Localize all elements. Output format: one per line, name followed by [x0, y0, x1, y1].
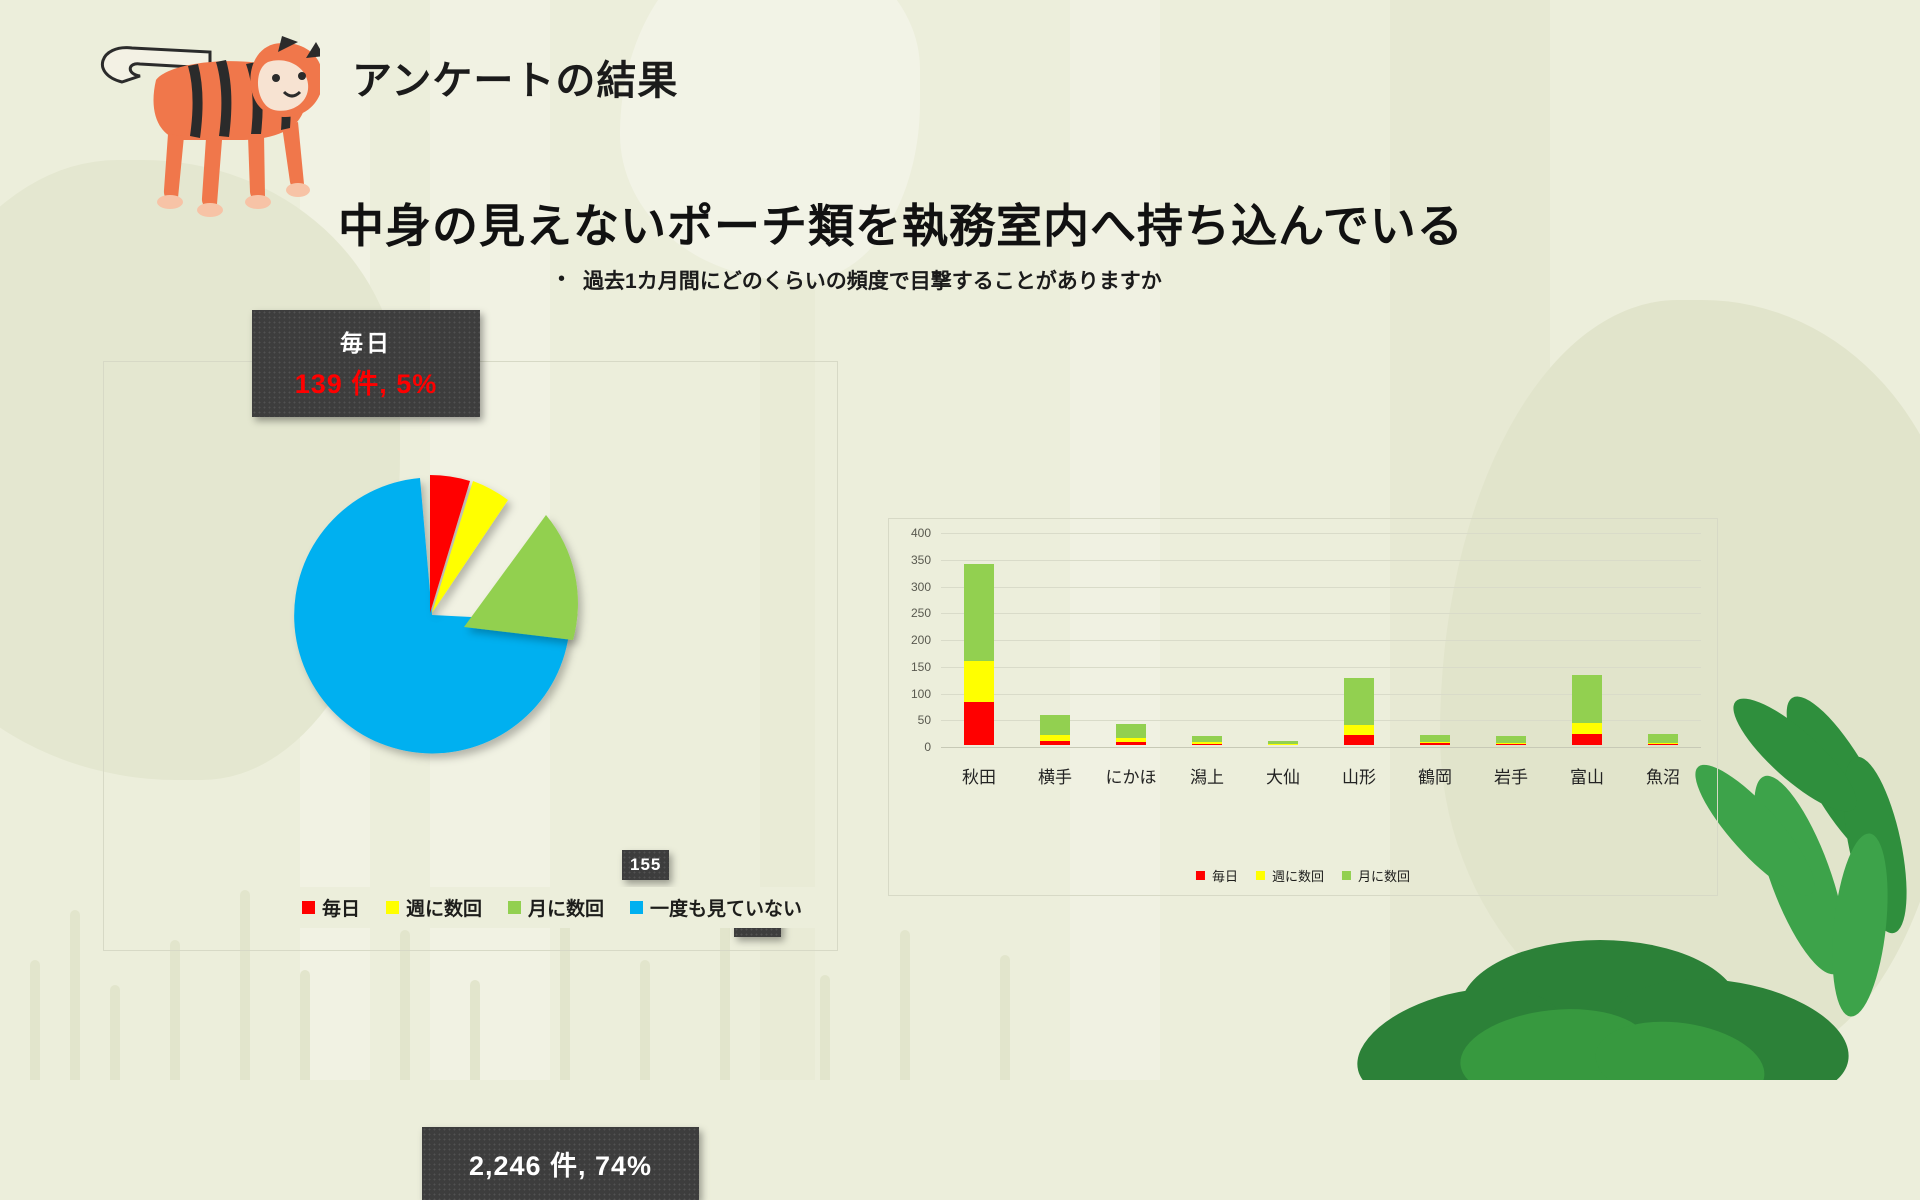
- x-axis-category-label: にかほ: [1106, 763, 1157, 788]
- pie-legend-item-daily[interactable]: 毎日: [302, 894, 360, 921]
- bar-segment[interactable]: [1268, 741, 1298, 744]
- bar-segment[interactable]: [1496, 744, 1526, 745]
- pie-legend-item-never[interactable]: 一度も見ていない: [630, 894, 802, 921]
- bar-group[interactable]: [1040, 531, 1070, 745]
- slide-subtitle: • 過去1カ月間にどのくらいの頻度で目撃することがありますか: [558, 265, 1162, 295]
- bar-segment[interactable]: [1040, 741, 1070, 745]
- y-axis-tick-label: 200: [897, 633, 931, 647]
- bar-group[interactable]: [1268, 531, 1298, 745]
- bar-segment[interactable]: [1420, 735, 1450, 742]
- slide-main-title: 中身の見えないポーチ類を執務室内へ持ち込んでいる: [338, 190, 1464, 256]
- bar-segment[interactable]: [1192, 744, 1222, 745]
- bar-legend-item[interactable]: 月に数回: [1342, 866, 1410, 885]
- pie-callout-weekly: 155: [622, 850, 669, 880]
- bar-group[interactable]: [1420, 531, 1450, 745]
- bar-group[interactable]: [1344, 531, 1374, 745]
- bar-legend-item[interactable]: 毎日: [1196, 866, 1238, 885]
- slide-subtitle-text: 過去1カ月間にどのくらいの頻度で目撃することがありますか: [583, 265, 1162, 295]
- gridline: [941, 747, 1701, 748]
- bar-segment[interactable]: [1192, 736, 1222, 742]
- bar-segment[interactable]: [964, 702, 994, 745]
- pie-chart-panel[interactable]: 毎日 139 件, 5% 155 495 2,246 件, 74% 毎日 週に数…: [103, 361, 838, 951]
- bar-segment[interactable]: [1648, 734, 1678, 743]
- bar-segment[interactable]: [1116, 742, 1146, 745]
- pie-legend[interactable]: 毎日 週に数回 月に数回 一度も見ていない: [284, 887, 820, 928]
- bar-group[interactable]: [1572, 531, 1602, 745]
- x-axis-category-label: 潟上: [1190, 763, 1224, 788]
- pie-callout-daily: 毎日 139 件, 5%: [252, 310, 480, 417]
- legend-swatch-daily: [302, 901, 315, 914]
- bar-chart-legend[interactable]: 毎日週に数回月に数回: [1196, 866, 1410, 885]
- bar-legend-item[interactable]: 週に数回: [1256, 866, 1324, 885]
- x-axis-category-label: 富山: [1570, 763, 1604, 788]
- pie-chart-svg[interactable]: [174, 347, 734, 907]
- y-axis-tick-label: 0: [897, 740, 931, 754]
- bar-group[interactable]: [1496, 531, 1526, 745]
- bar-chart-panel[interactable]: 050100150200250300350400秋田横手にかほ潟上大仙山形鶴岡岩…: [888, 518, 1718, 896]
- bar-segment[interactable]: [1572, 723, 1602, 735]
- bar-segment[interactable]: [1344, 735, 1374, 745]
- y-axis-tick-label: 50: [897, 713, 931, 727]
- bar-legend-label: 月に数回: [1358, 866, 1410, 885]
- bar-group[interactable]: [1192, 531, 1222, 745]
- bar-segment[interactable]: [964, 564, 994, 661]
- legend-swatch: [1196, 871, 1205, 880]
- pie-callout-daily-value: 139 件, 5%: [258, 362, 474, 401]
- legend-swatch: [1256, 871, 1265, 880]
- pie-legend-label-monthly: 月に数回: [528, 894, 604, 921]
- bar-segment[interactable]: [1496, 743, 1526, 744]
- bar-segment[interactable]: [1116, 724, 1146, 738]
- bar-group[interactable]: [1648, 531, 1678, 745]
- bar-segment[interactable]: [1116, 738, 1146, 742]
- y-axis-tick-label: 400: [897, 526, 931, 540]
- pie-callout-daily-label: 毎日: [258, 324, 474, 358]
- bar-segment[interactable]: [1572, 675, 1602, 723]
- bar-segment[interactable]: [1040, 715, 1070, 735]
- legend-swatch: [1342, 871, 1351, 880]
- bar-segment[interactable]: [1496, 736, 1526, 743]
- bar-segment[interactable]: [1344, 725, 1374, 735]
- bar-segment[interactable]: [1572, 734, 1602, 745]
- pie-legend-label-weekly: 週に数回: [406, 894, 482, 921]
- x-axis-category-label: 山形: [1342, 763, 1376, 788]
- x-axis-category-label: 横手: [1038, 763, 1072, 788]
- bar-group[interactable]: [1116, 531, 1146, 745]
- bar-segment[interactable]: [1420, 743, 1450, 745]
- pie-legend-label-daily: 毎日: [322, 894, 360, 921]
- pie-callout-never: 2,246 件, 74%: [422, 1127, 699, 1200]
- x-axis-category-label: 岩手: [1494, 763, 1528, 788]
- y-axis-tick-label: 100: [897, 687, 931, 701]
- x-axis-category-label: 秋田: [962, 763, 996, 788]
- y-axis-tick-label: 150: [897, 660, 931, 674]
- legend-swatch-weekly: [386, 901, 399, 914]
- bar-segment[interactable]: [1344, 678, 1374, 725]
- bar-segment[interactable]: [1192, 742, 1222, 744]
- bar-chart-plot[interactable]: 050100150200250300350400秋田横手にかほ潟上大仙山形鶴岡岩…: [889, 519, 1717, 895]
- bar-segment[interactable]: [1040, 735, 1070, 740]
- bar-group[interactable]: [964, 531, 994, 745]
- bar-segment[interactable]: [1648, 744, 1678, 745]
- y-axis-tick-label: 300: [897, 580, 931, 594]
- pie-legend-label-never: 一度も見ていない: [650, 894, 802, 921]
- x-axis-category-label: 鶴岡: [1418, 763, 1452, 788]
- x-axis-category-label: 大仙: [1266, 763, 1300, 788]
- page-title: アンケートの結果: [352, 48, 678, 106]
- tiger-mascot-illustration: [60, 22, 320, 232]
- y-axis-tick-label: 250: [897, 606, 931, 620]
- pie-legend-item-monthly[interactable]: 月に数回: [508, 894, 604, 921]
- pie-chart: 毎日 139 件, 5% 155 495 2,246 件, 74%: [104, 362, 837, 950]
- pie-legend-item-weekly[interactable]: 週に数回: [386, 894, 482, 921]
- bar-legend-label: 毎日: [1212, 866, 1238, 885]
- x-axis-category-label: 魚沼: [1646, 763, 1680, 788]
- bar-segment[interactable]: [1268, 744, 1298, 745]
- bar-segment[interactable]: [1420, 742, 1450, 743]
- bar-legend-label: 週に数回: [1272, 866, 1324, 885]
- bullet-marker: •: [558, 265, 565, 289]
- bar-segment[interactable]: [964, 661, 994, 702]
- legend-swatch-monthly: [508, 901, 521, 914]
- bar-segment[interactable]: [1268, 744, 1298, 745]
- legend-swatch-never: [630, 901, 643, 914]
- y-axis-tick-label: 350: [897, 553, 931, 567]
- bar-segment[interactable]: [1648, 743, 1678, 744]
